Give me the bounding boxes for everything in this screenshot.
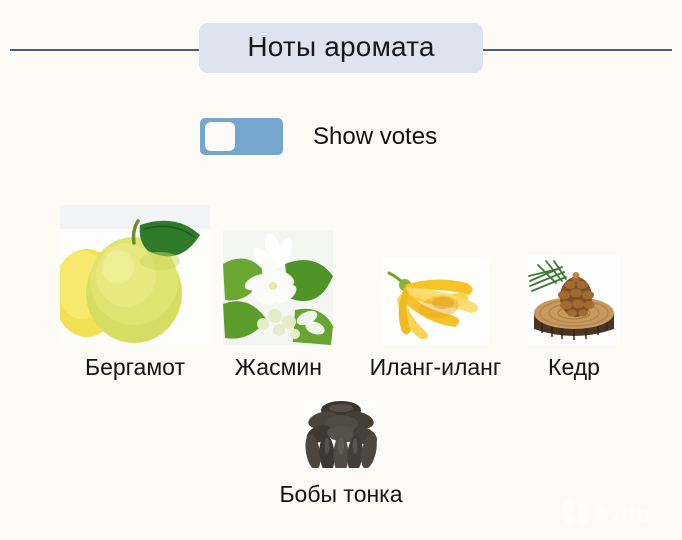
- show-votes-row: Show votes: [200, 118, 437, 155]
- fragrance-notes-row-2: Бобы тонка: [0, 400, 682, 508]
- note-label-ylang-ylang: Иланг-иланг: [370, 354, 502, 381]
- toggle-knob: [205, 122, 235, 151]
- page-title-box: Ноты аромата: [199, 23, 483, 73]
- note-item-jasmine[interactable]: Жасмин: [223, 230, 333, 381]
- note-item-tonka-beans[interactable]: Бобы тонка: [279, 400, 402, 508]
- note-item-cedar[interactable]: Кедр: [528, 255, 620, 381]
- note-label-tonka-beans: Бобы тонка: [279, 481, 402, 508]
- bergamot-fruit-image: [60, 205, 210, 345]
- avito-watermark: Avito: [560, 498, 664, 528]
- page-title-row: Ноты аромата: [0, 22, 682, 74]
- cedar-wood-pinecone-image: [528, 255, 620, 345]
- jasmine-flower-image: [223, 230, 333, 345]
- ylang-ylang-flower-image: [381, 257, 489, 345]
- show-votes-label: Show votes: [313, 123, 437, 151]
- tonka-beans-image: [301, 400, 381, 472]
- note-label-cedar: Кедр: [548, 354, 600, 381]
- svg-text:Avito: Avito: [593, 501, 650, 527]
- note-item-ylang-ylang[interactable]: Иланг-иланг: [370, 257, 502, 381]
- note-label-bergamot: Бергамот: [85, 354, 185, 381]
- page-title: Ноты аромата: [225, 30, 457, 64]
- note-item-bergamot[interactable]: Бергамот: [60, 205, 210, 381]
- show-votes-toggle[interactable]: [200, 118, 283, 155]
- fragrance-notes-row-1: Бергамот: [60, 205, 620, 381]
- note-label-jasmine: Жасмин: [235, 354, 322, 381]
- avito-logo-icon: Avito: [560, 498, 664, 528]
